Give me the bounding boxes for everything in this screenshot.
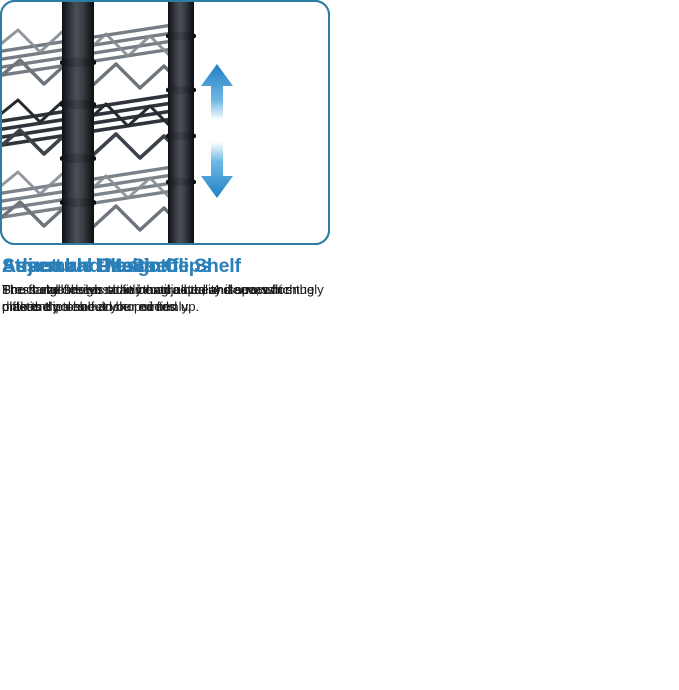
- left-pole-ring-1: [60, 58, 96, 67]
- panel-4-illustration: [0, 0, 330, 245]
- left-pole-ring-2: [60, 100, 96, 109]
- panel-4-caption: Adjust and Move the Shelf The metal shel…: [0, 245, 334, 315]
- panel-4-title: Adjust and Move the Shelf: [2, 255, 334, 277]
- instruction-sheet: Assemble Plastic Clips The flange needs …: [0, 0, 679, 690]
- arrow-down-icon: [200, 142, 234, 198]
- right-pole-ring-3: [166, 132, 196, 140]
- left-pole-ring-3: [60, 154, 96, 163]
- right-pole-ring-4: [166, 178, 196, 186]
- shelving-pole-left: [62, 0, 94, 245]
- right-pole-ring-1: [166, 32, 196, 40]
- arrow-up-icon: [200, 64, 234, 120]
- instruction-step-4: Adjust and Move the Shelf The metal shel…: [0, 0, 334, 315]
- shelving-unit-graphic: [0, 0, 246, 245]
- right-pole-ring-2: [166, 86, 196, 94]
- panel-4-body: The metal shelves can be adjusted and sp…: [2, 281, 327, 315]
- left-pole-ring-4: [60, 198, 96, 207]
